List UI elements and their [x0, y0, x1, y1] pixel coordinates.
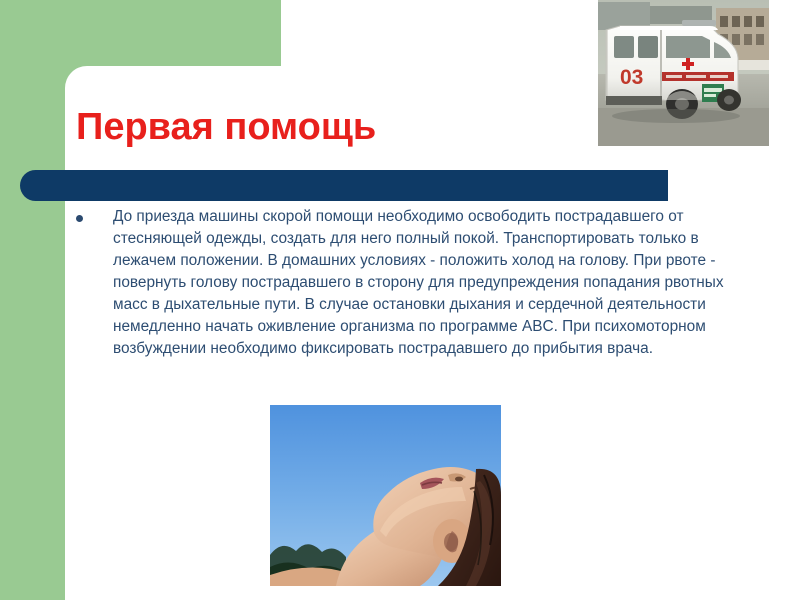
- ambulance-photo: 03: [598, 0, 769, 146]
- bullet-dot-icon: [76, 215, 83, 222]
- title-accent-bar: [20, 170, 668, 201]
- green-top-band-decoration: [0, 0, 281, 66]
- person-illustration: [270, 405, 501, 586]
- green-corner-decoration: [65, 66, 87, 88]
- person-head-tilted-photo: [270, 405, 501, 586]
- svg-text:03: 03: [620, 66, 643, 89]
- slide-title: Первая помощь: [76, 108, 376, 148]
- presentation-slide: Первая помощь До приезда машины скорой п…: [0, 0, 800, 600]
- ambulance-illustration: 03: [598, 0, 769, 146]
- body-bullet-list: До приезда машины скорой помощи необходи…: [76, 206, 736, 360]
- green-left-strip-decoration: [0, 0, 65, 600]
- bullet-item-text: До приезда машины скорой помощи необходи…: [113, 206, 736, 360]
